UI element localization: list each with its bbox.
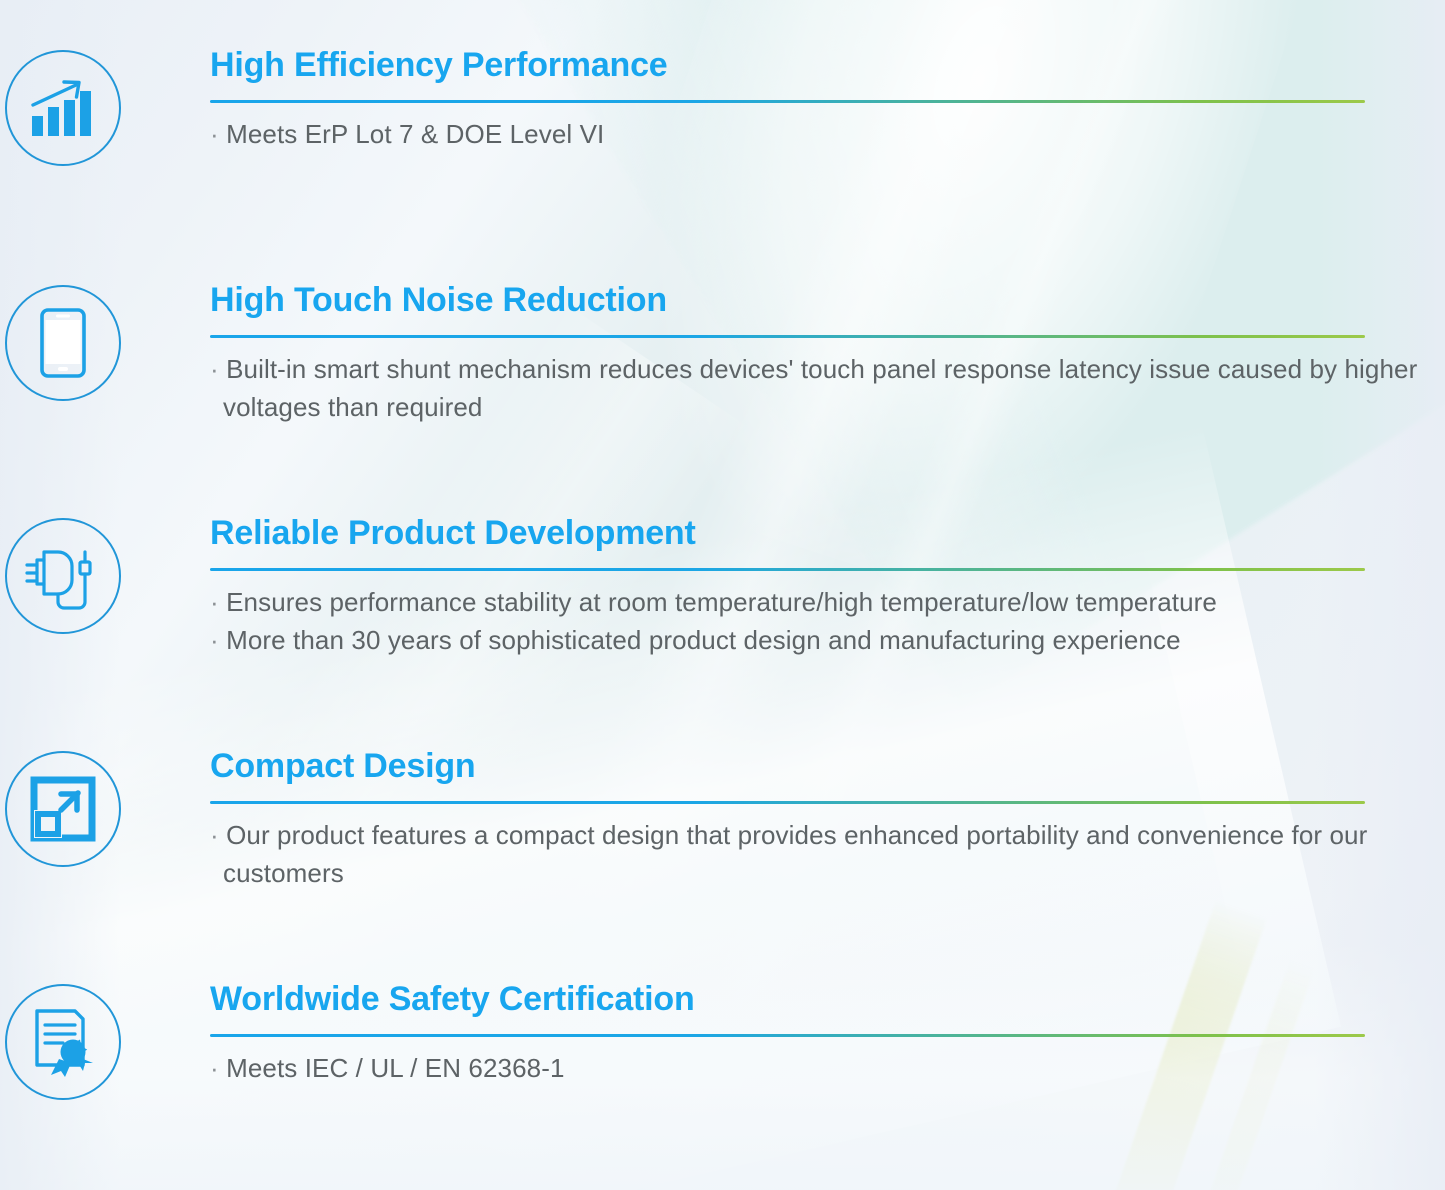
- feature-bullet: · Ensures performance stability at room …: [210, 583, 1365, 621]
- bullet-marker: ·: [210, 625, 219, 655]
- bullet-text: More than 30 years of sophisticated prod…: [226, 625, 1181, 655]
- feature-item-compact-design: Compact Design · Our product features a …: [0, 749, 1445, 892]
- feature-body: Compact Design · Our product features a …: [126, 749, 1445, 892]
- feature-bullets: · Meets ErP Lot 7 & DOE Level VI: [210, 115, 1365, 153]
- feature-item-reliable-product-development: Reliable Product Development · Ensures p…: [0, 516, 1365, 659]
- feature-icon-container: [0, 516, 126, 634]
- feature-body: Worldwide Safety Certification · Meets I…: [126, 982, 1365, 1087]
- feature-highlights-page: High Efficiency Performance · Meets ErP …: [0, 0, 1445, 1190]
- bullet-text: Meets IEC / UL / EN 62368-1: [226, 1053, 564, 1083]
- feature-item-worldwide-safety-certification: Worldwide Safety Certification · Meets I…: [0, 982, 1365, 1100]
- bullet-marker: ·: [210, 587, 219, 617]
- feature-body: Reliable Product Development · Ensures p…: [126, 516, 1365, 659]
- power-adapter-icon: [5, 518, 121, 634]
- feature-title: Worldwide Safety Certification: [210, 982, 1365, 1018]
- bullet-marker: ·: [210, 1053, 219, 1083]
- feature-icon-container: [0, 283, 126, 401]
- feature-icon-container: [0, 982, 126, 1100]
- feature-bullet: · Built-in smart shunt mechanism reduces…: [210, 350, 1445, 426]
- feature-item-high-touch-noise-reduction: High Touch Noise Reduction · Built-in sm…: [0, 283, 1445, 426]
- feature-body: High Touch Noise Reduction · Built-in sm…: [126, 283, 1445, 426]
- compact-resize-icon: [5, 751, 121, 867]
- feature-title: Reliable Product Development: [210, 516, 1365, 552]
- growth-bar-chart-icon: [5, 50, 121, 166]
- feature-bullet: · Our product features a compact design …: [210, 816, 1445, 892]
- feature-divider-rule: [210, 1034, 1365, 1037]
- bullet-marker: ·: [210, 820, 219, 850]
- feature-bullets: · Our product features a compact design …: [210, 816, 1445, 892]
- bullet-text: Built-in smart shunt mechanism reduces d…: [223, 354, 1417, 422]
- feature-divider-rule: [210, 801, 1365, 804]
- feature-body: High Efficiency Performance · Meets ErP …: [126, 48, 1365, 153]
- smartphone-icon: [5, 285, 121, 401]
- bullet-marker: ·: [210, 354, 219, 384]
- feature-bullet: · Meets IEC / UL / EN 62368-1: [210, 1049, 1365, 1087]
- feature-divider-rule: [210, 100, 1365, 103]
- feature-item-high-efficiency-performance: High Efficiency Performance · Meets ErP …: [0, 48, 1365, 166]
- feature-divider-rule: [210, 568, 1365, 571]
- feature-icon-container: [0, 749, 126, 867]
- certificate-seal-icon: [5, 984, 121, 1100]
- feature-divider-rule: [210, 335, 1365, 338]
- feature-bullets: · Built-in smart shunt mechanism reduces…: [210, 350, 1445, 426]
- feature-title: High Touch Noise Reduction: [210, 283, 1445, 319]
- bullet-marker: ·: [210, 119, 219, 149]
- feature-bullets: · Ensures performance stability at room …: [210, 583, 1365, 659]
- bullet-text: Our product features a compact design th…: [223, 820, 1367, 888]
- feature-bullet: · More than 30 years of sophisticated pr…: [210, 621, 1365, 659]
- feature-bullet: · Meets ErP Lot 7 & DOE Level VI: [210, 115, 1365, 153]
- feature-bullets: · Meets IEC / UL / EN 62368-1: [210, 1049, 1365, 1087]
- feature-icon-container: [0, 48, 126, 166]
- feature-title: High Efficiency Performance: [210, 48, 1365, 84]
- bullet-text: Meets ErP Lot 7 & DOE Level VI: [226, 119, 604, 149]
- feature-title: Compact Design: [210, 749, 1445, 785]
- bullet-text: Ensures performance stability at room te…: [226, 587, 1217, 617]
